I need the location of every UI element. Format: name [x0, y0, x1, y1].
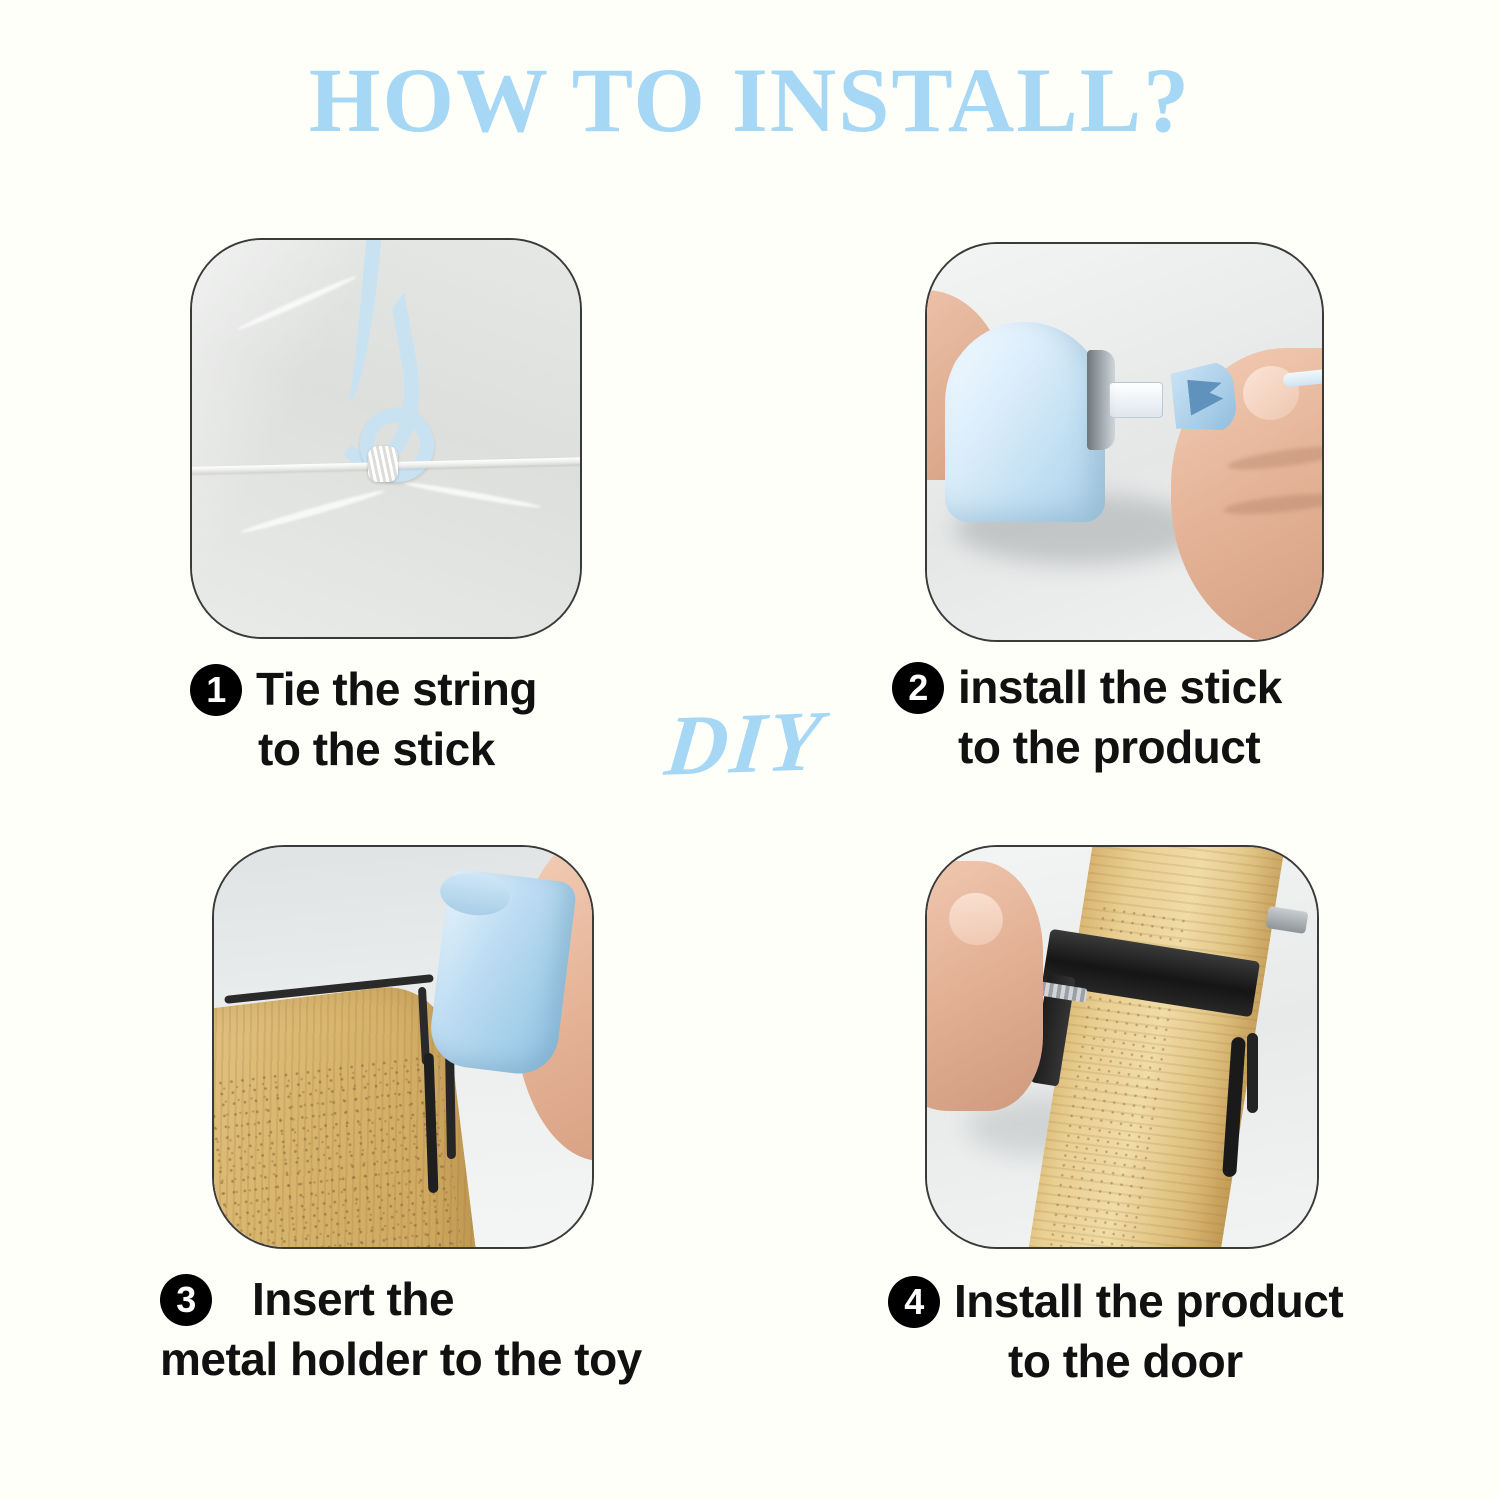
step-3-photo — [212, 845, 594, 1249]
step-4-photo — [925, 845, 1319, 1249]
step-2-caption: 2 install the stick to the product — [892, 658, 1282, 778]
step-4-scene — [927, 847, 1317, 1247]
step-4-line-2: to the door — [888, 1332, 1343, 1392]
step-1-line-1: Tie the string — [256, 660, 537, 720]
step-1-line-2: to the stick — [190, 720, 537, 780]
step-2-line-2: to the product — [892, 718, 1282, 778]
string-knot — [368, 446, 398, 482]
step-4-caption: 4 Install the product to the door — [888, 1272, 1343, 1392]
diy-watermark: DIY — [595, 695, 895, 791]
step-1-scene — [192, 240, 580, 637]
step-1-caption: 1 Tie the string to the stick — [190, 660, 537, 780]
step-2-badge: 2 — [892, 662, 944, 714]
step-1-badge: 1 — [190, 664, 242, 716]
step-4-badge: 4 — [888, 1276, 940, 1328]
step-2-photo — [925, 242, 1324, 642]
step-3-line-1: Insert the — [252, 1270, 454, 1330]
step-4-line-1: Install the product — [954, 1272, 1343, 1332]
clamp-hook-secondary — [1247, 1033, 1258, 1113]
step-2-line-1: install the stick — [958, 658, 1282, 718]
page-title: HOW TO INSTALL? — [0, 52, 1500, 149]
step-2-scene — [927, 244, 1322, 640]
step-3-caption: 3 Insert the metal holder to the toy — [160, 1270, 642, 1390]
step-3-badge: 3 — [160, 1274, 212, 1326]
step-3-line-2: metal holder to the toy — [160, 1330, 642, 1390]
blue-product-body — [945, 322, 1105, 522]
clear-peg — [1109, 382, 1163, 418]
step-3-scene — [214, 847, 592, 1247]
step-1-photo — [190, 238, 582, 639]
